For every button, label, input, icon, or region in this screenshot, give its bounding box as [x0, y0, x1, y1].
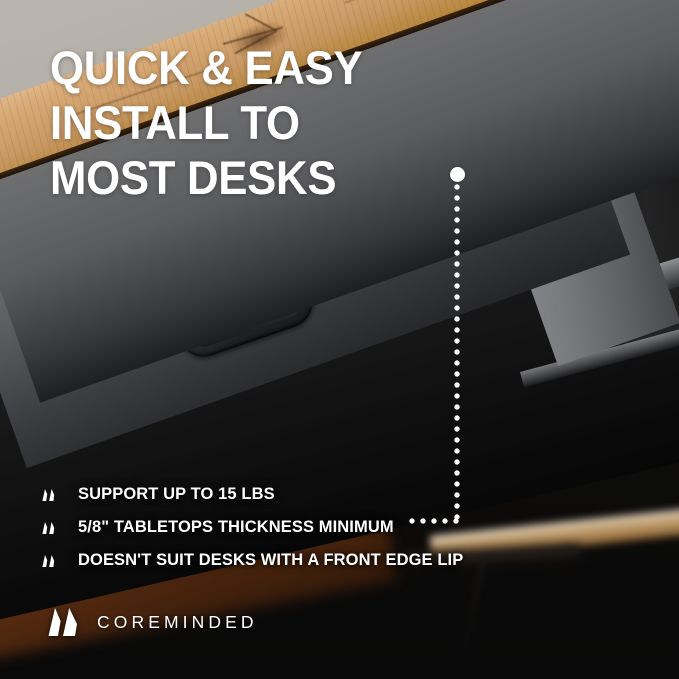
feature-list: SUPPORT UP TO 15 LBS 5/8" TABLETOPS THIC… — [41, 478, 601, 577]
headline: QUICK & EASY INSTALL TO MOST DESKS — [50, 40, 362, 205]
coreminded-m-mark-icon — [41, 488, 57, 502]
coreminded-m-logo-icon — [46, 607, 80, 637]
list-item: DOESN'T SUIT DESKS WITH A FRONT EDGE LIP — [41, 544, 601, 577]
brand-name: COREMINDED — [97, 612, 258, 633]
headline-line-1: QUICK & EASY — [50, 40, 362, 95]
list-item: 5/8" TABLETOPS THICKNESS MINIMUM — [41, 511, 601, 544]
dotted-measure-line-icon — [454, 184, 460, 522]
coreminded-m-mark-icon — [41, 521, 57, 535]
headline-line-2: INSTALL TO — [50, 95, 362, 150]
list-item-label: SUPPORT UP TO 15 LBS — [78, 485, 275, 504]
list-item-label: 5/8" TABLETOPS THICKNESS MINIMUM — [78, 518, 394, 537]
product-feature-graphic: QUICK & EASY INSTALL TO MOST DESKS SUPPO… — [0, 0, 679, 679]
measure-endpoint-dot-icon — [450, 167, 465, 182]
coreminded-m-mark-icon — [41, 554, 57, 568]
headline-line-3: MOST DESKS — [50, 150, 362, 205]
list-item-label: DOESN'T SUIT DESKS WITH A FRONT EDGE LIP — [78, 551, 463, 570]
brand-lockup: COREMINDED — [46, 607, 258, 637]
list-item: SUPPORT UP TO 15 LBS — [41, 478, 601, 511]
